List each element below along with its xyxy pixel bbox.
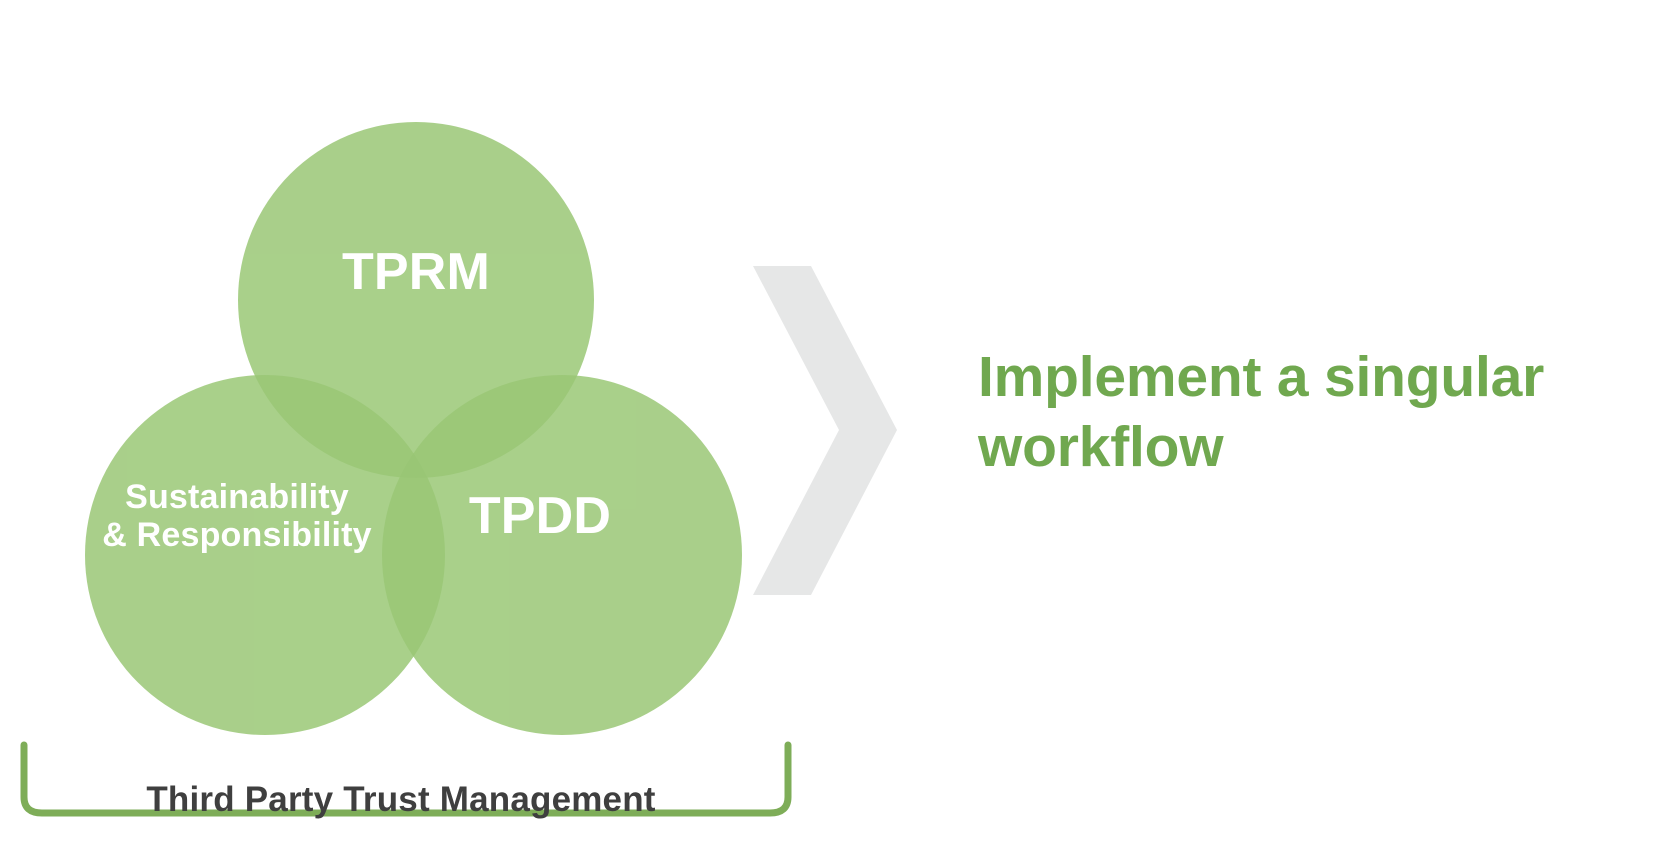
outcome-text: Implement a singular workflow: [978, 342, 1578, 482]
venn-diagram: TPRM Sustainability & Responsibility TPD…: [0, 0, 860, 760]
venn-circle-tpdd[interactable]: [382, 375, 742, 735]
slide-canvas: TPRM Sustainability & Responsibility TPD…: [0, 0, 1672, 862]
bracket-caption: Third Party Trust Management: [0, 780, 802, 820]
arrow-group: [745, 258, 905, 603]
venn-circles-svg: [0, 0, 860, 760]
chevron-right-icon: [745, 258, 905, 603]
